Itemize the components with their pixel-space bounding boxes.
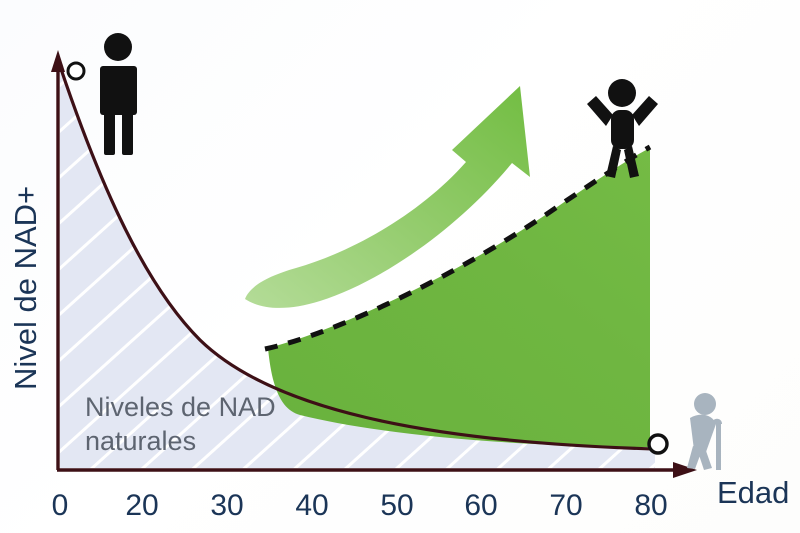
- x-tick-30: 30: [210, 489, 243, 522]
- region-label-line-1: Niveles de NAD: [85, 392, 276, 422]
- nad-levels-chart: Niveles de NAD naturales Edad Nivel de N…: [0, 0, 800, 533]
- y-axis-arrowhead: [51, 50, 65, 72]
- x-tick-50: 50: [380, 489, 413, 522]
- x-tick-labels: 0 20 30 40 50 60 70 80: [52, 489, 668, 522]
- young-adult-figure-icon: [100, 33, 137, 155]
- x-tick-40: 40: [295, 489, 328, 522]
- elderly-figure-icon: [687, 393, 722, 470]
- end-marker: [649, 435, 667, 453]
- x-tick-80: 80: [634, 489, 667, 522]
- x-tick-60: 60: [464, 489, 497, 522]
- x-axis-title: Edad: [717, 475, 789, 510]
- chart-canvas: Niveles de NAD naturales Edad Nivel de N…: [0, 0, 800, 533]
- x-tick-70: 70: [549, 489, 582, 522]
- y-axis-title: Nivel de NAD+: [8, 186, 43, 390]
- x-tick-20: 20: [125, 489, 158, 522]
- start-marker: [68, 63, 84, 79]
- x-tick-0: 0: [52, 489, 69, 522]
- region-label-line-2: naturales: [85, 426, 196, 456]
